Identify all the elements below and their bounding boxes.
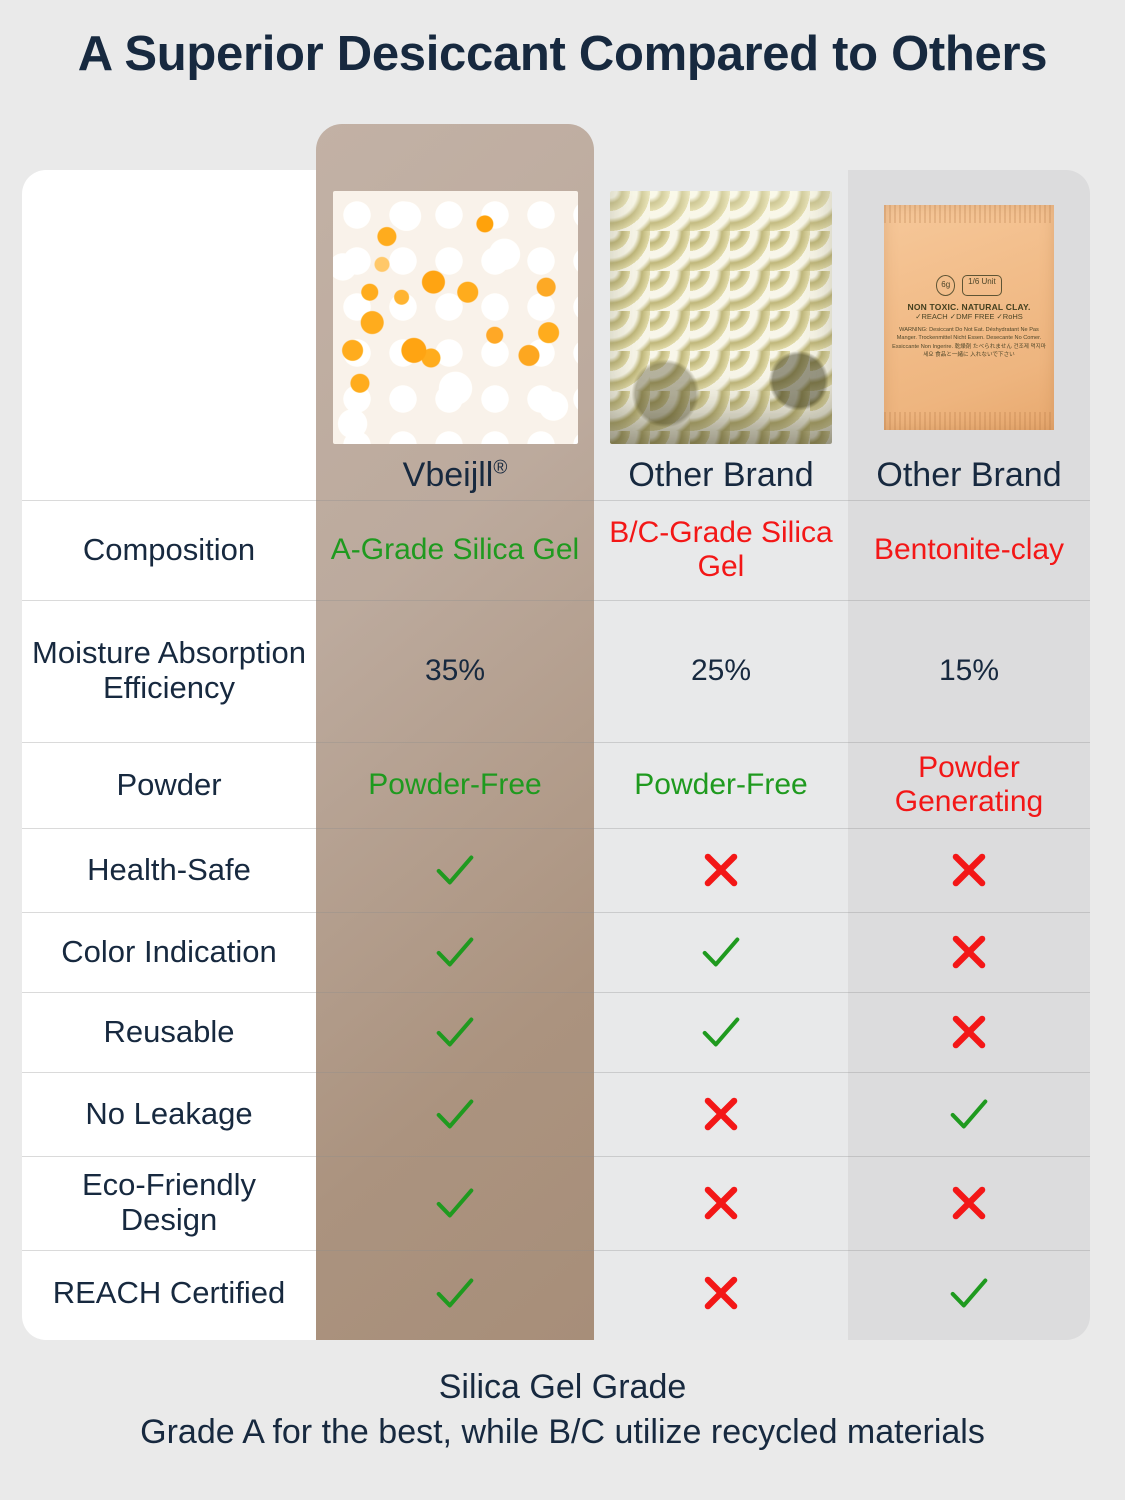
comparison-grid: Vbeijll® Other Brand 6g 1/6 Unit NON TOX… (22, 170, 1090, 1336)
header-cell-label (22, 170, 316, 500)
sachet-unit-badge: 1/6 Unit (962, 275, 1002, 295)
sachet-line-1: NON TOXIC. NATURAL CLAY. (907, 303, 1030, 313)
check-icon (594, 992, 848, 1072)
check-icon (316, 1072, 594, 1156)
table-row: Color Indication (22, 912, 1090, 992)
check-icon (848, 1250, 1090, 1336)
table-row: No Leakage (22, 1072, 1090, 1156)
table-row: Reusable (22, 992, 1090, 1072)
row-label: Reusable (22, 992, 316, 1072)
row-label: Health-Safe (22, 828, 316, 912)
check-icon (316, 828, 594, 912)
table-header-row: Vbeijll® Other Brand 6g 1/6 Unit NON TOX… (22, 170, 1090, 500)
footer-line-1: Silica Gel Grade (0, 1368, 1125, 1407)
row-label: Moisture Absorption Efficiency (22, 600, 316, 742)
sachet-line-2: ✓REACH ✓DMF FREE ✓RoHS (915, 313, 1023, 321)
cross-icon (848, 828, 1090, 912)
comparison-infographic: A Superior Desiccant Compared to Others … (0, 0, 1125, 1500)
cell-value: 15% (848, 600, 1090, 742)
table-row: CompositionA-Grade Silica GelB/C-Grade S… (22, 500, 1090, 600)
page-title: A Superior Desiccant Compared to Others (0, 26, 1125, 82)
brand-name-a: Vbeijll® (403, 456, 508, 494)
table-row: Eco-Friendly Design (22, 1156, 1090, 1250)
cross-icon (848, 1156, 1090, 1250)
check-icon (316, 1250, 594, 1336)
check-icon (848, 1072, 1090, 1156)
sachet-weight-badge: 6g (936, 275, 955, 295)
cell-value: B/C-Grade Silica Gel (594, 500, 848, 600)
footer-line-2: Grade A for the best, while B/C utilize … (0, 1413, 1125, 1452)
row-label: Color Indication (22, 912, 316, 992)
check-icon (594, 912, 848, 992)
row-label: Powder (22, 742, 316, 828)
table-row: Moisture Absorption Efficiency35%25%15% (22, 600, 1090, 742)
footer-note: Silica Gel Grade Grade A for the best, w… (0, 1368, 1125, 1452)
row-label: Eco-Friendly Design (22, 1156, 316, 1250)
cell-value: Bentonite-clay (848, 500, 1090, 600)
cell-value: Powder-Free (316, 742, 594, 828)
check-icon (316, 1156, 594, 1250)
sachet-warning-text: WARNING: Desiccant Do Not Eat. Déshydrat… (884, 326, 1054, 360)
cell-value: 25% (594, 600, 848, 742)
sachet-body: 6g 1/6 Unit NON TOXIC. NATURAL CLAY. ✓RE… (884, 205, 1054, 430)
table-row: Health-Safe (22, 828, 1090, 912)
clay-desiccant-sachet-photo: 6g 1/6 Unit NON TOXIC. NATURAL CLAY. ✓RE… (868, 191, 1070, 444)
cell-value: A-Grade Silica Gel (316, 500, 594, 600)
table-row: PowderPowder-FreePowder-FreePowder Gener… (22, 742, 1090, 828)
row-label: Composition (22, 500, 316, 600)
row-label: REACH Certified (22, 1250, 316, 1336)
cross-icon (848, 992, 1090, 1072)
brand-name-a-text: Vbeijll (403, 456, 494, 494)
header-cell-brand-a: Vbeijll® (316, 170, 594, 500)
white-orange-silica-beads-photo (333, 191, 578, 444)
cross-icon (594, 1250, 848, 1336)
row-label: No Leakage (22, 1072, 316, 1156)
cross-icon (848, 912, 1090, 992)
cell-value: Powder-Free (594, 742, 848, 828)
cell-value: 35% (316, 600, 594, 742)
header-cell-brand-b: Other Brand (594, 170, 848, 500)
brand-name-c: Other Brand (876, 456, 1061, 494)
brand-name-b: Other Brand (628, 456, 813, 494)
sachet-badges: 6g 1/6 Unit (936, 275, 1001, 295)
cell-value: Powder Generating (848, 742, 1090, 828)
cross-icon (594, 1072, 848, 1156)
check-icon (316, 992, 594, 1072)
yellow-silica-beads-photo (610, 191, 832, 444)
trademark-symbol-a: ® (493, 458, 507, 479)
header-cell-brand-c: 6g 1/6 Unit NON TOXIC. NATURAL CLAY. ✓RE… (848, 170, 1090, 500)
check-icon (316, 912, 594, 992)
cross-icon (594, 828, 848, 912)
cross-icon (594, 1156, 848, 1250)
table-row: REACH Certified (22, 1250, 1090, 1336)
